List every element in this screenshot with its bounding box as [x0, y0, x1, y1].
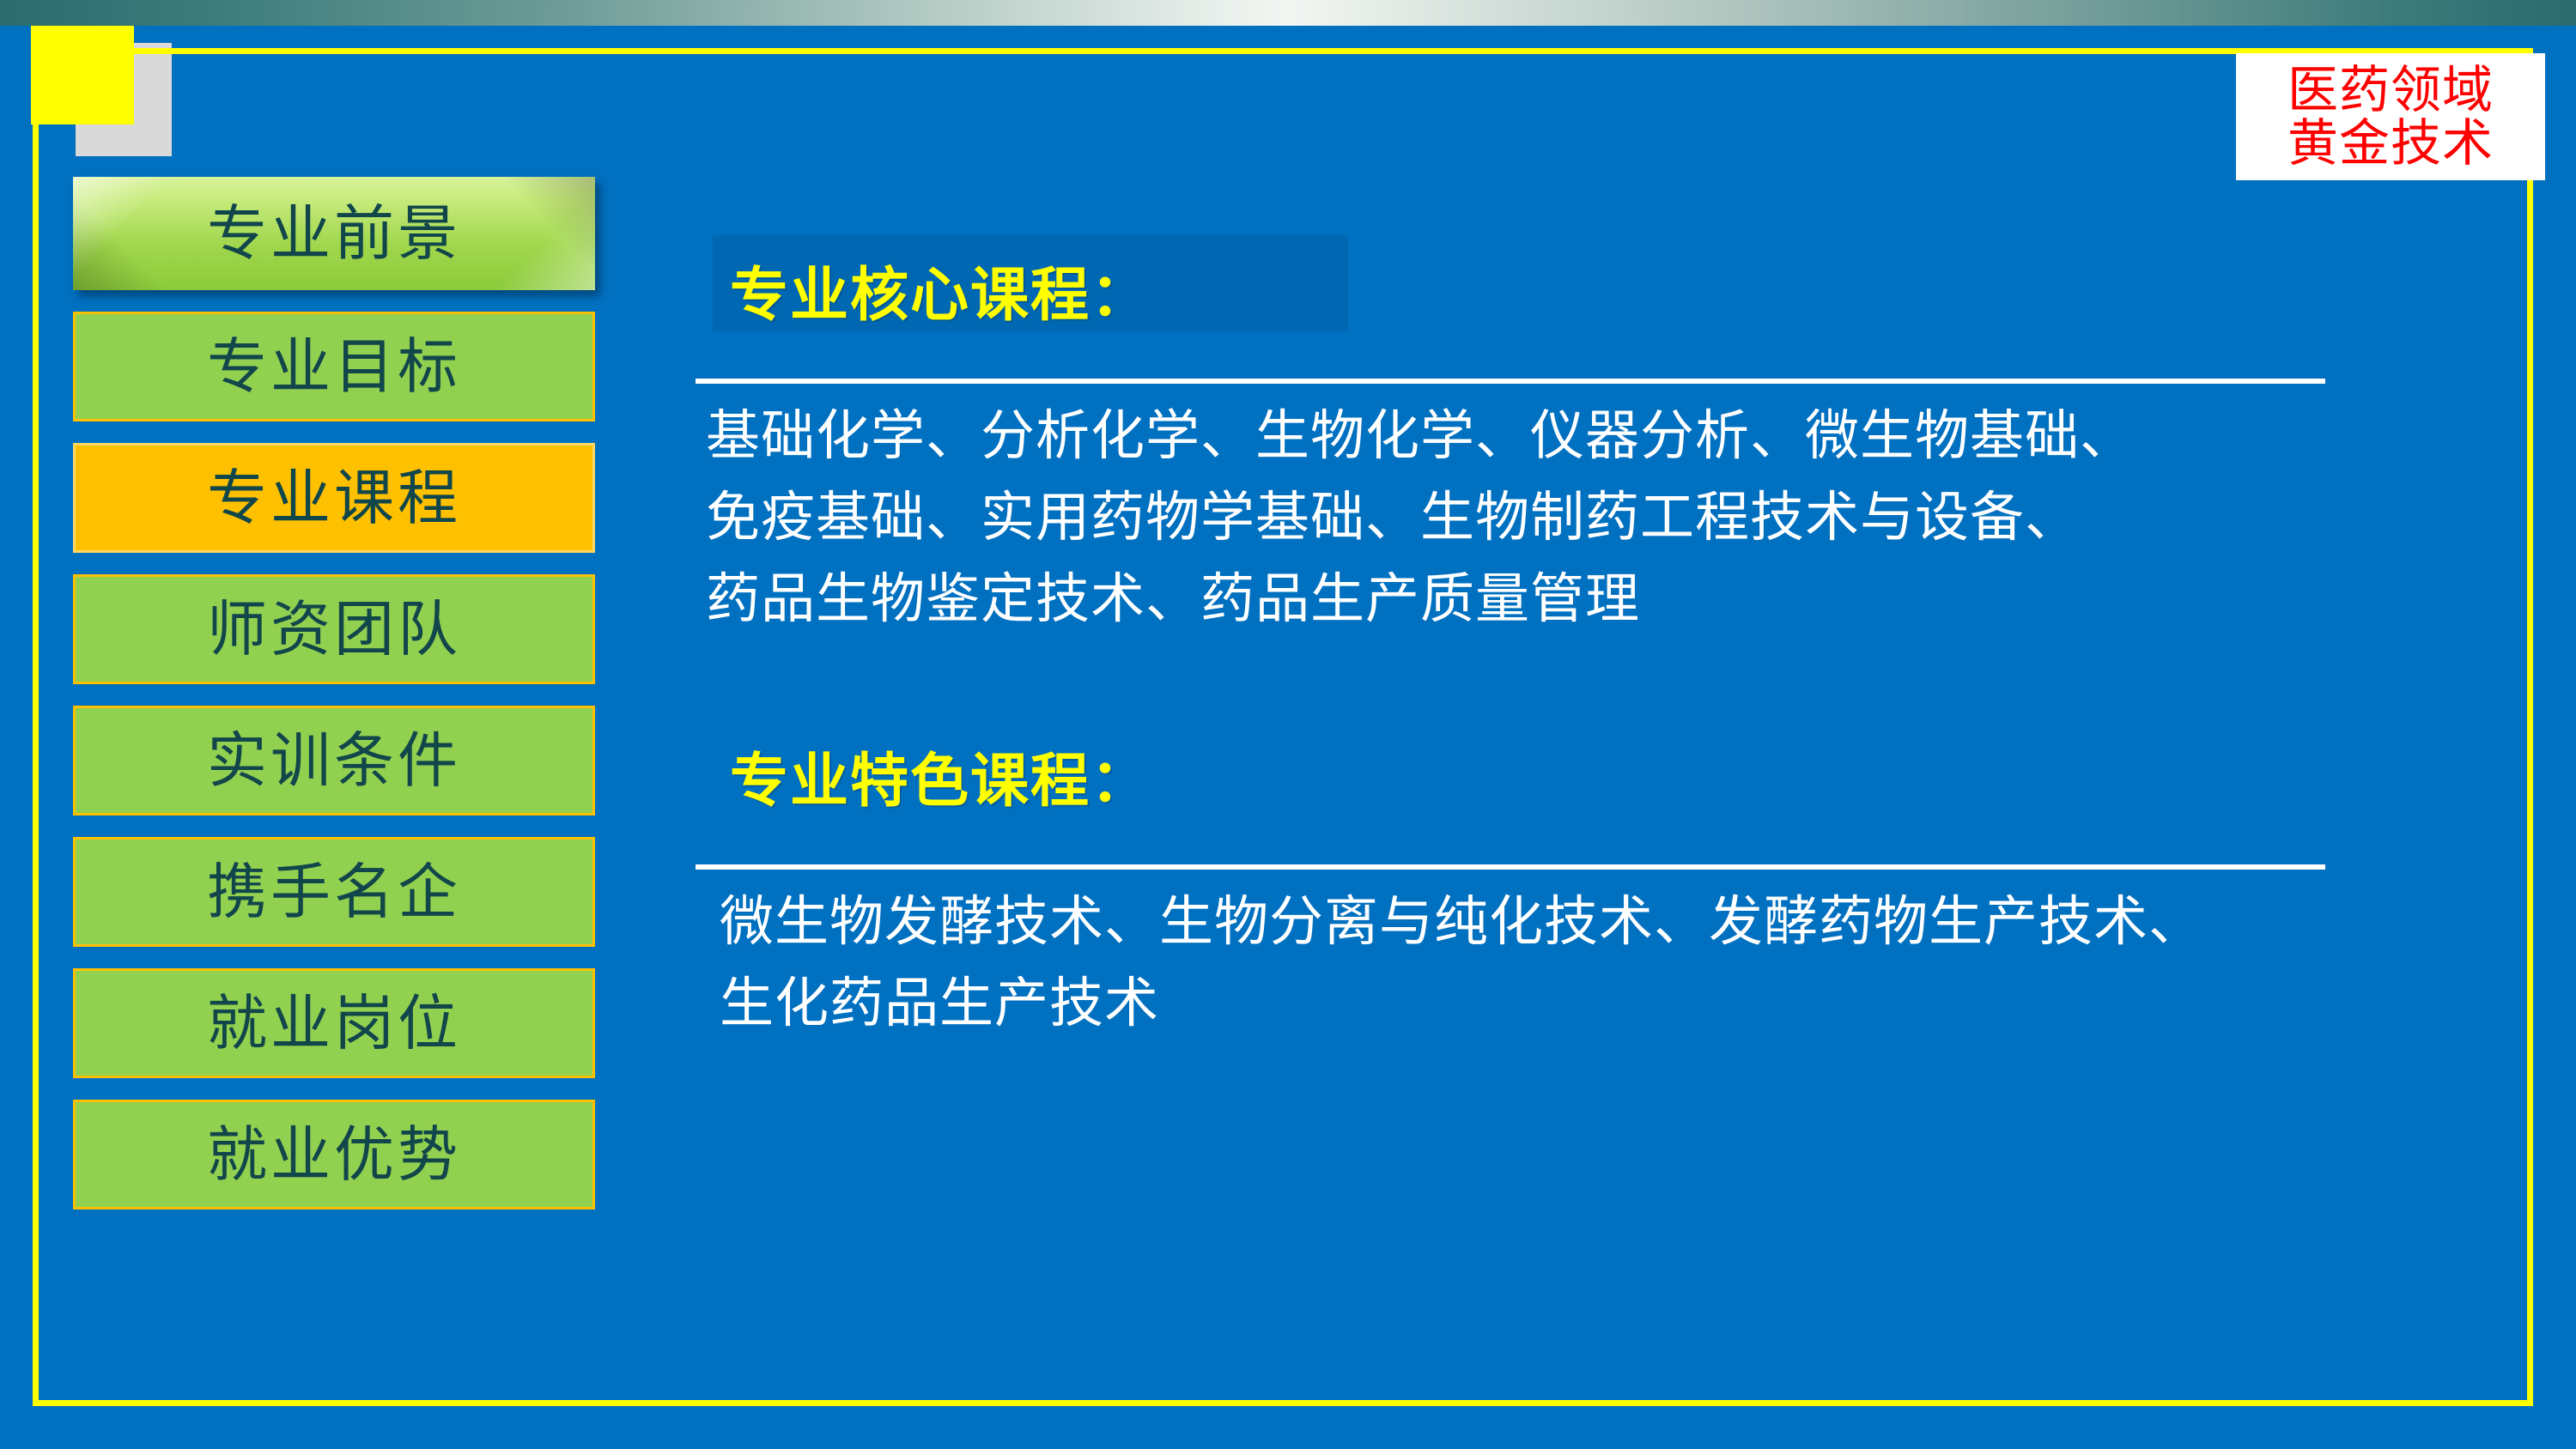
main-content: 专业核心课程： 基础化学、分析化学、生物化学、仪器分析、微生物基础、 免疫基础、…	[696, 215, 2327, 1048]
featured-courses-line-2: 生化药品生产技术	[696, 967, 2327, 1041]
core-courses-heading-wrap: 专业核心课程：	[696, 263, 2327, 330]
section-featured-courses: 专业特色课程： 微生物发酵技术、生物分离与纯化技术、发酵药物生产技术、 生化药品…	[696, 749, 2327, 1041]
badge-line-1: 医药领域	[2287, 64, 2494, 117]
decorative-yellow-square	[31, 26, 134, 124]
core-courses-heading: 专业核心课程：	[696, 263, 2327, 330]
featured-courses-divider	[696, 864, 2325, 870]
featured-courses-heading-wrap: 专业特色课程：	[696, 749, 2327, 815]
sidebar-item-training-conditions[interactable]: 实训条件	[73, 706, 595, 815]
sidebar-item-label: 携手名企	[207, 862, 461, 922]
slide-canvas: 医药领域 黄金技术 专业前景 专业目标 专业课程 师资团队 实训条件 携手名企 …	[0, 0, 2576, 1449]
section-spacer	[696, 644, 2327, 700]
badge-line-2: 黄金技术	[2287, 117, 2494, 170]
sidebar-item-faculty-team[interactable]: 师资团队	[73, 574, 595, 684]
core-courses-line-3: 药品生物鉴定技术、药品生产质量管理	[696, 562, 2327, 637]
section-core-courses: 专业核心课程： 基础化学、分析化学、生物化学、仪器分析、微生物基础、 免疫基础、…	[696, 263, 2327, 636]
sidebar-item-label: 就业岗位	[207, 993, 461, 1053]
sidebar-item-employment-advantages[interactable]: 就业优势	[73, 1100, 595, 1210]
top-gradient-bar	[0, 0, 2576, 26]
sidebar-item-professional-courses[interactable]: 专业课程	[73, 443, 595, 553]
featured-courses-line-1: 微生物发酵技术、生物分离与纯化技术、发酵药物生产技术、	[696, 885, 2327, 960]
core-courses-line-2: 免疫基础、实用药物学基础、生物制药工程技术与设备、	[696, 481, 2327, 555]
corner-badge: 医药领域 黄金技术	[2236, 53, 2545, 180]
sidebar-item-professional-goals[interactable]: 专业目标	[73, 312, 595, 421]
sidebar-item-label: 师资团队	[207, 599, 461, 659]
sidebar-item-professional-prospects[interactable]: 专业前景	[73, 177, 595, 290]
sidebar-item-label: 就业优势	[207, 1125, 461, 1185]
sidebar-item-label: 专业前景	[207, 203, 461, 264]
sidebar-item-label: 专业课程	[207, 468, 461, 528]
sidebar-item-label: 专业目标	[207, 336, 461, 397]
featured-courses-heading: 专业特色课程：	[696, 749, 2327, 815]
core-courses-divider	[696, 379, 2325, 384]
sidebar-nav: 专业前景 专业目标 专业课程 师资团队 实训条件 携手名企 就业岗位 就业优势	[73, 177, 595, 1231]
sidebar-item-employment-positions[interactable]: 就业岗位	[73, 968, 595, 1078]
core-courses-line-1: 基础化学、分析化学、生物化学、仪器分析、微生物基础、	[696, 399, 2327, 474]
sidebar-item-label: 实训条件	[207, 731, 461, 791]
sidebar-item-partner-companies[interactable]: 携手名企	[73, 837, 595, 947]
